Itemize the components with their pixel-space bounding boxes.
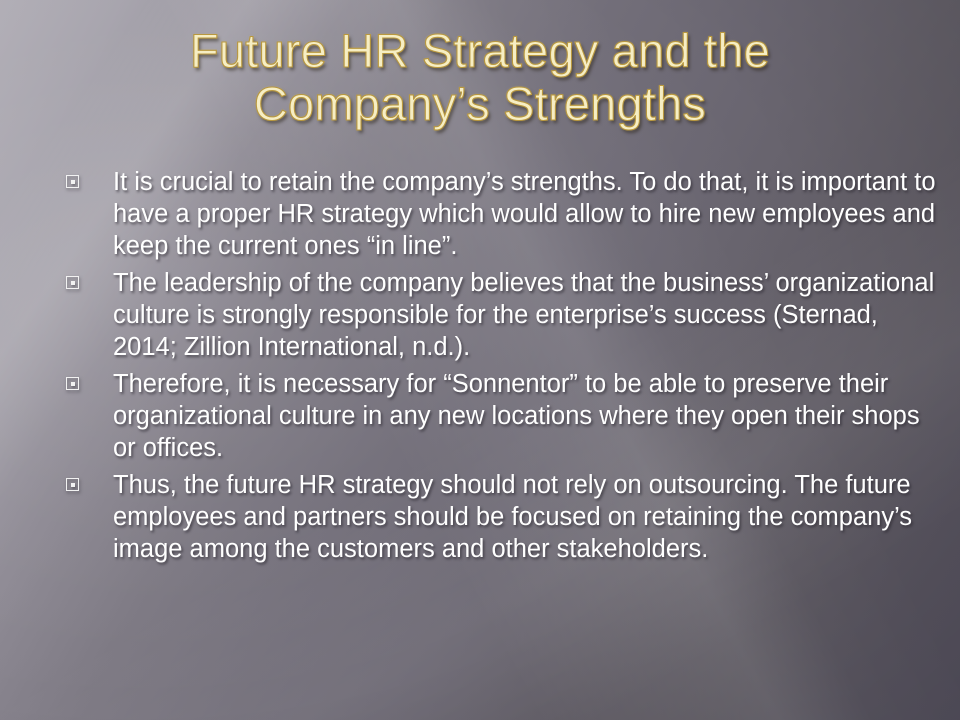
slide-body-placeholder: It is crucial to retain the company’s st… [66, 166, 946, 570]
bullet-text: It is crucial to retain the company’s st… [113, 166, 946, 262]
list-item: It is crucial to retain the company’s st… [66, 166, 946, 262]
boxed-square-bullet-icon [66, 175, 79, 188]
bullet-text: Therefore, it is necessary for “Sonnento… [113, 368, 946, 464]
list-item: Thus, the future HR strategy should not … [66, 469, 946, 565]
bullet-text: Thus, the future HR strategy should not … [113, 469, 946, 565]
presentation-slide: Future HR Strategy and the Company’s Str… [0, 0, 960, 720]
slide-title-placeholder: Future HR Strategy and the Company’s Str… [40, 24, 920, 130]
bullet-text: The leadership of the company believes t… [113, 267, 946, 363]
boxed-square-bullet-icon [66, 478, 79, 491]
boxed-square-bullet-icon [66, 377, 79, 390]
boxed-square-bullet-icon [66, 276, 79, 289]
list-item: Therefore, it is necessary for “Sonnento… [66, 368, 946, 464]
slide-title: Future HR Strategy and the Company’s Str… [40, 24, 920, 130]
list-item: The leadership of the company believes t… [66, 267, 946, 363]
